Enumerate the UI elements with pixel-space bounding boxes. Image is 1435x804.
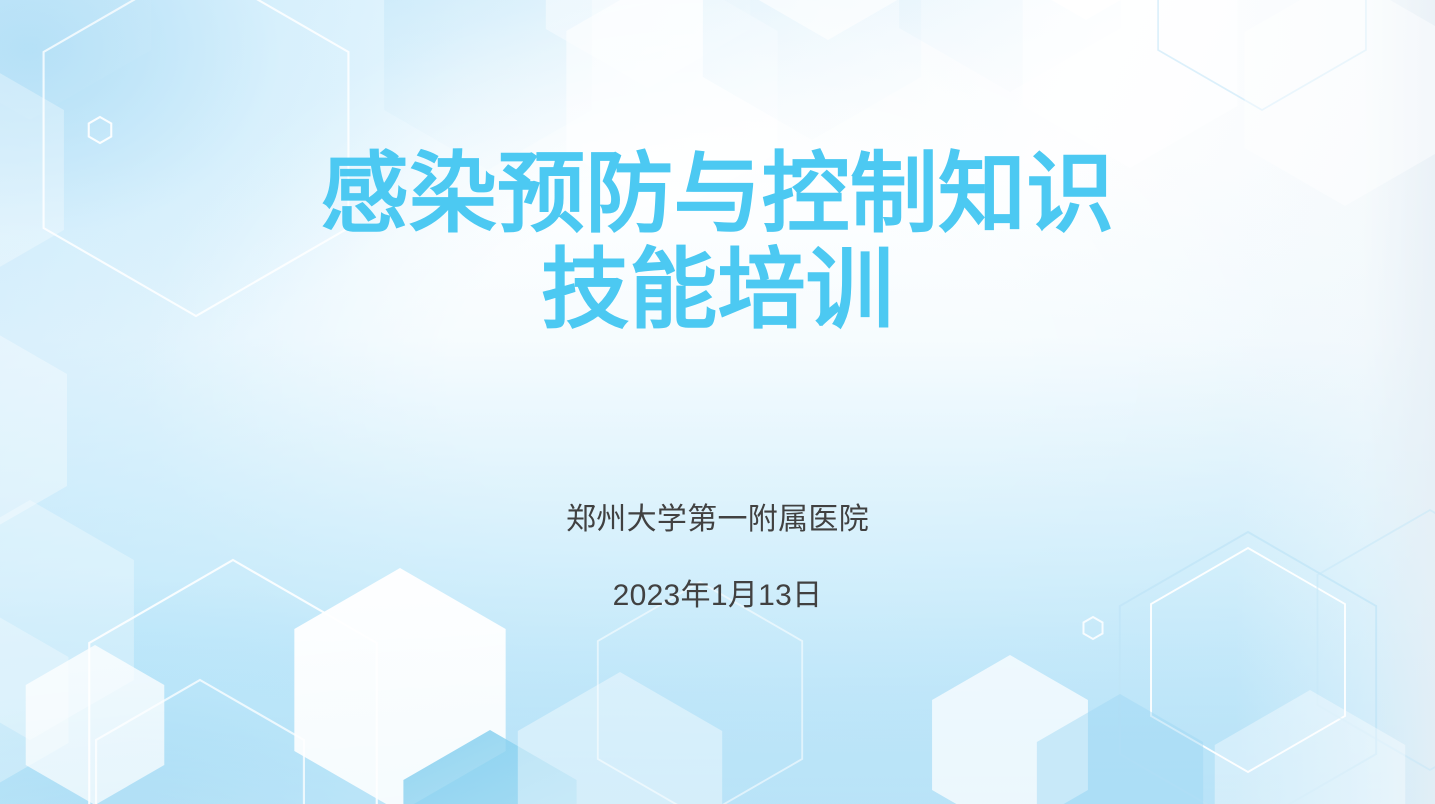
slide-subtitle: 郑州大学第一附属医院 2023年1月13日: [0, 494, 1435, 614]
organization-name: 郑州大学第一附属医院: [0, 494, 1435, 538]
slide-title: 感染预防与控制知识 技能培训: [0, 148, 1435, 335]
slide-content: 感染预防与控制知识 技能培训 郑州大学第一附属医院 2023年1月13日: [0, 0, 1435, 804]
presentation-date: 2023年1月13日: [0, 570, 1435, 614]
title-line-2: 技能培训: [0, 244, 1435, 336]
title-line-1: 感染预防与控制知识: [0, 148, 1435, 240]
title-slide: 感染预防与控制知识 技能培训 郑州大学第一附属医院 2023年1月13日: [0, 0, 1435, 804]
